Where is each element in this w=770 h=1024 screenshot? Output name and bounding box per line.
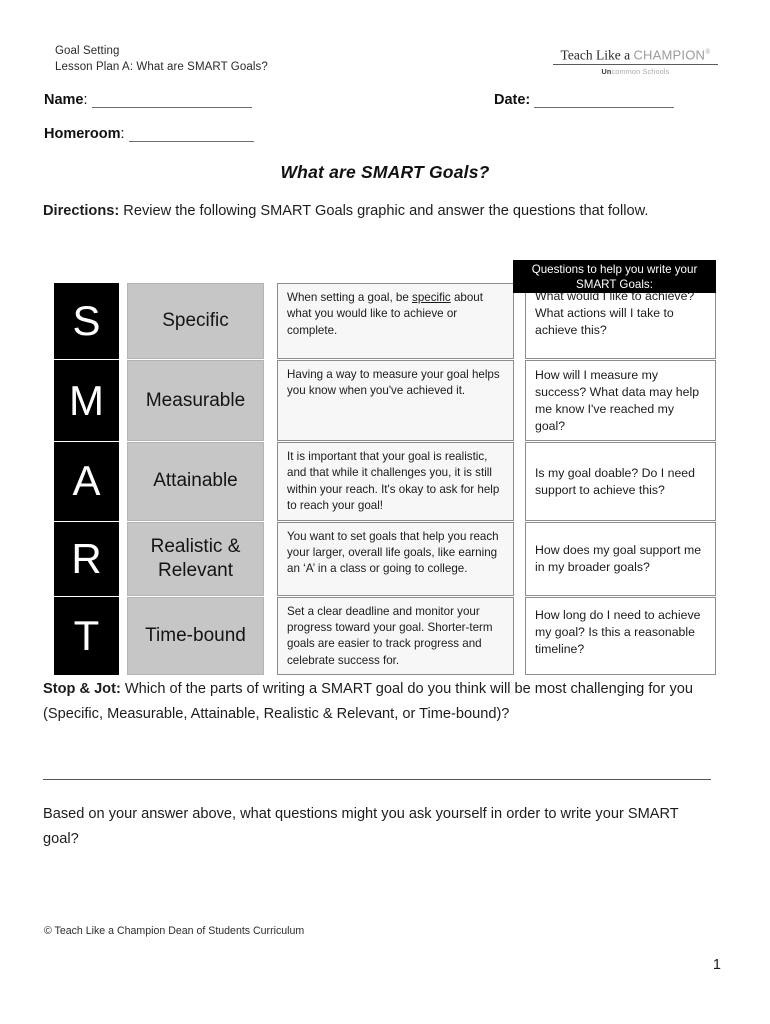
- directions-label: Directions:: [43, 203, 119, 219]
- teach-like-a-champion-logo: Teach Like a CHAMPION® Uncommon Schools: [553, 45, 718, 76]
- scan-speckle-artifact: [48, 258, 498, 265]
- directions-text: Review the following SMART Goals graphic…: [119, 203, 648, 219]
- label-cell-specific: Specific: [127, 283, 264, 359]
- stop-and-jot-label: Stop & Jot:: [43, 681, 121, 697]
- kicker-line-unit: Goal Setting: [55, 44, 268, 60]
- kicker-line-lesson: Lesson Plan A: What are SMART Goals?: [55, 60, 268, 76]
- name-label: Name: [44, 92, 84, 108]
- table-row: R Realistic & Relevant You want to set g…: [54, 522, 716, 596]
- worksheet-page: Goal Setting Lesson Plan A: What are SMA…: [0, 0, 770, 1024]
- description-cell-specific: When setting a goal, be specific about w…: [277, 283, 514, 359]
- question-cell-realistic-relevant: How does my goal support me in my broade…: [525, 522, 716, 596]
- homeroom-input[interactable]: [129, 128, 254, 142]
- date-label: Date:: [494, 92, 530, 108]
- page-number: 1: [713, 957, 721, 973]
- label-cell-realistic-relevant: Realistic & Relevant: [127, 522, 264, 596]
- questions-banner-line1: Questions to help you write your: [519, 263, 710, 278]
- question-cell-specific: What would I like to achieve? What actio…: [525, 283, 716, 359]
- letter-block-m: M: [54, 360, 119, 441]
- letter-block-s: S: [54, 283, 119, 359]
- table-row: A Attainable It is important that your g…: [54, 442, 716, 521]
- page-header: Goal Setting Lesson Plan A: What are SMA…: [0, 44, 770, 84]
- question-cell-time-bound: How long do I need to achieve my goal? I…: [525, 597, 716, 676]
- answer-divider-rule: [43, 779, 711, 780]
- name-field-row: Name:: [44, 92, 252, 108]
- directions-paragraph: Directions: Review the following SMART G…: [43, 199, 711, 224]
- questions-banner: Questions to help you write your SMART G…: [513, 260, 716, 293]
- label-cell-time-bound: Time-bound: [127, 597, 264, 676]
- homeroom-colon: :: [121, 126, 125, 142]
- date-input[interactable]: [534, 94, 674, 108]
- label-cell-measurable: Measurable: [127, 360, 264, 441]
- table-row: M Measurable Having a way to measure you…: [54, 360, 716, 441]
- name-colon: :: [84, 92, 88, 108]
- questions-banner-line2: SMART Goals:: [519, 278, 710, 293]
- table-row: T Time-bound Set a clear deadline and mo…: [54, 597, 716, 676]
- stop-and-jot-prompt: Stop & Jot: Which of the parts of writin…: [43, 677, 715, 727]
- description-underlined: specific: [412, 291, 451, 304]
- followup-question: Based on your answer above, what questio…: [43, 802, 715, 852]
- description-pre: When setting a goal, be: [287, 291, 412, 304]
- logo-subtitle-bold: Un: [602, 67, 612, 76]
- stop-and-jot-text: Which of the parts of writing a SMART go…: [43, 681, 693, 722]
- document-kicker: Goal Setting Lesson Plan A: What are SMA…: [55, 44, 268, 75]
- label-cell-attainable: Attainable: [127, 442, 264, 521]
- date-field-row: Date:: [494, 92, 674, 108]
- description-cell-time-bound: Set a clear deadline and monitor your pr…: [277, 597, 514, 676]
- homeroom-label: Homeroom: [44, 126, 121, 142]
- logo-wordmark: Teach Like a CHAMPION®: [553, 45, 718, 65]
- description-cell-attainable: It is important that your goal is realis…: [277, 442, 514, 521]
- page-title: What are SMART Goals?: [0, 162, 770, 183]
- letter-block-t: T: [54, 597, 119, 676]
- homeroom-field-row: Homeroom:: [44, 126, 254, 142]
- name-input[interactable]: [92, 94, 252, 108]
- description-cell-measurable: Having a way to measure your goal helps …: [277, 360, 514, 441]
- logo-subtitle: Uncommon Schools: [553, 67, 718, 76]
- copyright-notice: © Teach Like a Champion Dean of Students…: [44, 925, 304, 937]
- letter-block-a: A: [54, 442, 119, 521]
- question-cell-measurable: How will I measure my success? What data…: [525, 360, 716, 441]
- logo-subtitle-rest: common Schools: [612, 67, 670, 76]
- logo-brand-text: CHAMPION: [633, 48, 705, 63]
- registered-trademark-icon: ®: [705, 48, 710, 56]
- table-row: S Specific When setting a goal, be speci…: [54, 283, 716, 359]
- smart-goals-table: S Specific When setting a goal, be speci…: [54, 283, 716, 676]
- description-cell-realistic-relevant: You want to set goals that help you reac…: [277, 522, 514, 596]
- logo-prefix-text: Teach Like a: [561, 48, 634, 63]
- letter-block-r: R: [54, 522, 119, 596]
- question-cell-attainable: Is my goal doable? Do I need support to …: [525, 442, 716, 521]
